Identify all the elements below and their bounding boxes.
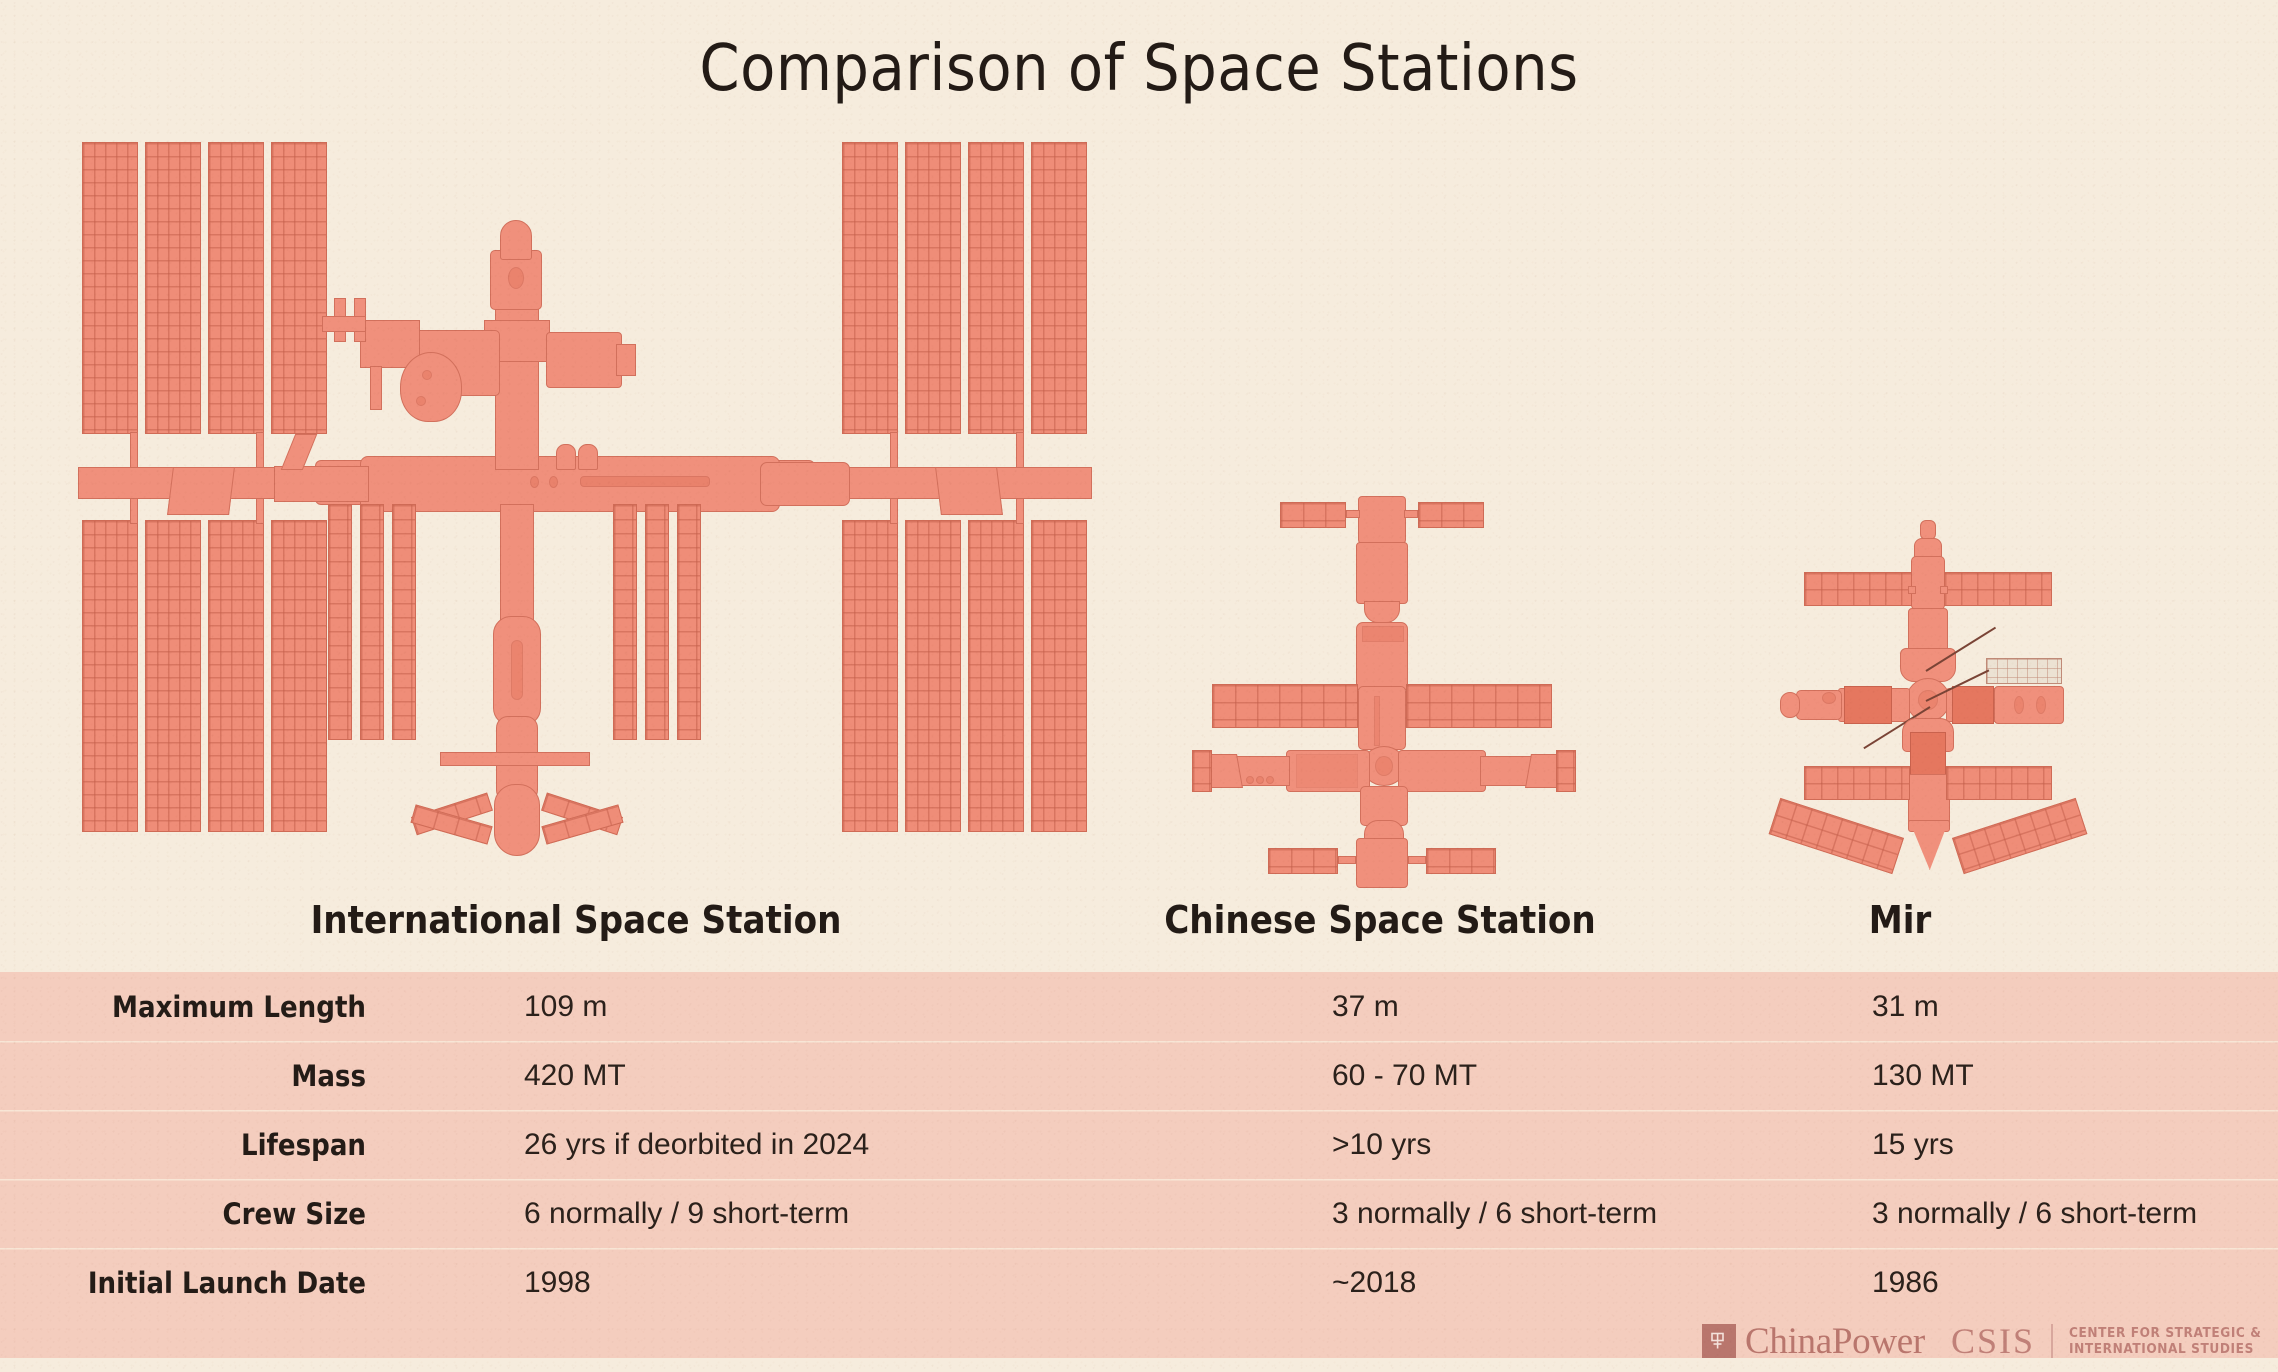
cell-css-initial-launch-date: ~2018 bbox=[1332, 1248, 1416, 1317]
cell-css-lifespan: >10 yrs bbox=[1332, 1110, 1431, 1179]
cell-mir-maximum-length: 31 m bbox=[1872, 972, 1939, 1041]
cell-iss-initial-launch-date: 1998 bbox=[524, 1248, 591, 1317]
cell-mir-mass: 130 MT bbox=[1872, 1041, 1974, 1110]
cell-mir-crew-size: 3 normally / 6 short-term bbox=[1872, 1179, 2197, 1248]
csis-tagline-line-2: INTERNATIONAL STUDIES bbox=[2069, 1341, 2261, 1357]
mir-diagram bbox=[1780, 520, 2080, 840]
cell-css-maximum-length: 37 m bbox=[1332, 972, 1399, 1041]
table-row: Crew Size 6 normally / 9 short-term 3 no… bbox=[0, 1179, 2278, 1248]
table-row: Maximum Length 109 m 37 m 31 m bbox=[0, 972, 2278, 1041]
footer-logos: ChinaPower CSIS CENTER FOR STRATEGIC & I… bbox=[1702, 1320, 2261, 1362]
stations-illustration-area bbox=[0, 120, 2278, 850]
iss-diagram bbox=[60, 120, 1110, 850]
cell-mir-lifespan: 15 yrs bbox=[1872, 1110, 1954, 1179]
cell-css-mass: 60 - 70 MT bbox=[1332, 1041, 1477, 1110]
cell-iss-maximum-length: 109 m bbox=[524, 972, 607, 1041]
cell-mir-initial-launch-date: 1986 bbox=[1872, 1248, 1939, 1317]
logo-divider bbox=[2051, 1324, 2053, 1358]
station-name-css: Chinese Space Station bbox=[1100, 898, 1660, 942]
csis-wordmark: CSIS bbox=[1951, 1323, 2035, 1359]
cell-iss-crew-size: 6 normally / 9 short-term bbox=[524, 1179, 849, 1248]
table-row: Mass 420 MT 60 - 70 MT 130 MT bbox=[0, 1041, 2278, 1110]
cell-iss-mass: 420 MT bbox=[524, 1041, 626, 1110]
chinapower-logo-icon bbox=[1702, 1324, 1736, 1358]
chinapower-wordmark: ChinaPower bbox=[1745, 1323, 1925, 1360]
station-name-iss: International Space Station bbox=[256, 898, 896, 942]
station-name-mir: Mir bbox=[1780, 898, 2020, 942]
row-label-crew-size: Crew Size bbox=[0, 1179, 370, 1248]
cell-iss-lifespan: 26 yrs if deorbited in 2024 bbox=[524, 1110, 869, 1179]
row-label-mass: Mass bbox=[0, 1041, 370, 1110]
comparison-table: Maximum Length 109 m 37 m 31 m Mass 420 … bbox=[0, 972, 2278, 1358]
row-label-initial-launch-date: Initial Launch Date bbox=[0, 1248, 370, 1317]
page-title: Comparison of Space Stations bbox=[0, 32, 2278, 106]
csis-tagline: CENTER FOR STRATEGIC & INTERNATIONAL STU… bbox=[2069, 1325, 2261, 1357]
row-label-maximum-length: Maximum Length bbox=[0, 972, 370, 1041]
chinese-space-station-diagram bbox=[1190, 488, 1570, 818]
table-row: Lifespan 26 yrs if deorbited in 2024 >10… bbox=[0, 1110, 2278, 1179]
csis-tagline-line-1: CENTER FOR STRATEGIC & bbox=[2069, 1325, 2261, 1341]
row-label-lifespan: Lifespan bbox=[0, 1110, 370, 1179]
cell-css-crew-size: 3 normally / 6 short-term bbox=[1332, 1179, 1657, 1248]
